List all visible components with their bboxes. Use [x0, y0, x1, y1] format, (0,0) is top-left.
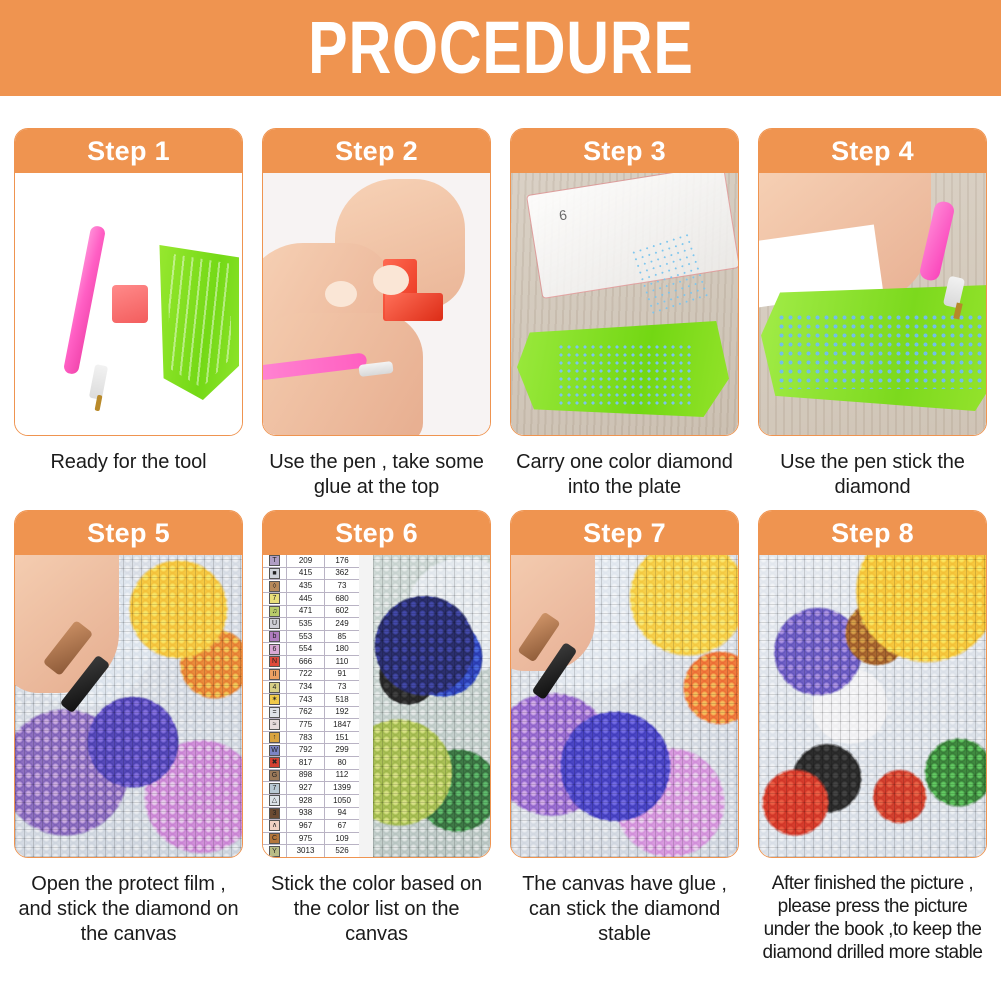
color-code-cell: 445: [287, 593, 325, 605]
color-list-row: ∧96767: [263, 820, 359, 833]
step-cell-6: Step 6 T209176■415362◊435737445680♫47160…: [262, 510, 491, 964]
glue-on-pen-photo: [263, 173, 490, 435]
color-list-row: b55385: [263, 631, 359, 644]
tool-kit-photo: [15, 173, 242, 435]
color-quantity-cell: 1399: [325, 782, 359, 794]
color-swatch-icon: U: [269, 618, 280, 629]
color-symbol-cell: C: [263, 833, 287, 845]
step-card-2: Step 2: [262, 128, 491, 436]
canvas-mosaic-photo: [511, 555, 738, 857]
tray-grooves-icon: [165, 253, 231, 388]
step-header-label-7: Step 7: [583, 520, 666, 547]
color-swatch-icon: △: [269, 795, 280, 806]
pour-diamonds-photo: 6: [511, 173, 738, 435]
mosaic-grid: [759, 555, 986, 857]
color-code-cell: 792: [287, 744, 325, 756]
step-header-label-4: Step 4: [831, 138, 914, 165]
step-image-5: [15, 555, 242, 857]
color-swatch-icon: W: [269, 745, 280, 756]
color-list-row: T209176: [263, 555, 359, 568]
color-swatch-icon: 3: [269, 808, 280, 819]
color-quantity-cell: 109: [325, 833, 359, 845]
color-code-cell: 666: [287, 656, 325, 668]
color-symbol-cell: 7: [263, 782, 287, 794]
color-symbol-cell: =: [263, 707, 287, 719]
step-header-label-8: Step 8: [831, 520, 914, 547]
step-caption-4: Use the pen stick the diamond: [758, 450, 987, 500]
step-image-1: [15, 173, 242, 435]
color-code-cell: 535: [287, 618, 325, 630]
step-card-8: Step 8: [758, 510, 987, 858]
color-code-cell: 209: [287, 555, 325, 567]
color-symbol-cell: ≈: [263, 719, 287, 731]
color-quantity-cell: 180: [325, 643, 359, 655]
step-header-label-3: Step 3: [583, 138, 666, 165]
table-canvas-divider: [359, 555, 373, 857]
step-header-8: Step 8: [759, 511, 986, 555]
beads-in-tray-icon: [777, 313, 983, 389]
color-list-row: 79271399: [263, 782, 359, 795]
color-swatch-icon: Y: [269, 846, 280, 857]
color-swatch-icon: ∧: [269, 820, 280, 831]
color-quantity-cell: 73: [325, 580, 359, 592]
step-image-4: [759, 173, 986, 435]
color-swatch-icon: G: [269, 770, 280, 781]
color-code-cell: 553: [287, 631, 325, 643]
color-list-row: 393894: [263, 808, 359, 821]
procedure-infographic: PROCEDURE Step 1: [0, 0, 1001, 1001]
color-quantity-cell: 94: [325, 808, 359, 820]
glue-tube-body-icon: [385, 293, 443, 321]
step-cell-8: Step 8 After finished the picture , plea…: [758, 510, 987, 964]
step-header-1: Step 1: [15, 129, 242, 173]
color-list-row: Y3013526: [263, 845, 359, 857]
color-symbol-cell: ↑: [263, 732, 287, 744]
step-header-4: Step 4: [759, 129, 986, 173]
step-card-6: Step 6 T209176■415362◊435737445680♫47160…: [262, 510, 491, 858]
color-code-cell: 415: [287, 568, 325, 580]
step-image-8: [759, 555, 986, 857]
color-quantity-cell: 1050: [325, 795, 359, 807]
step-caption-2: Use the pen , take some glue at the top: [262, 450, 491, 500]
color-code-cell: 783: [287, 732, 325, 744]
step-header-label-6: Step 6: [335, 520, 418, 547]
step-header-5: Step 5: [15, 511, 242, 555]
color-quantity-cell: 518: [325, 694, 359, 706]
color-list-row: ✖81780: [263, 757, 359, 770]
color-code-cell: 938: [287, 808, 325, 820]
color-quantity-cell: 85: [325, 631, 359, 643]
color-symbol-cell: 6: [263, 643, 287, 655]
color-list-row: ✶743518: [263, 694, 359, 707]
color-code-cell: 3013: [287, 845, 325, 857]
color-symbol-cell: Y: [263, 845, 287, 857]
step-header-label-2: Step 2: [335, 138, 418, 165]
page-title: PROCEDURE: [308, 11, 693, 85]
page-banner: PROCEDURE: [0, 0, 1001, 96]
color-symbol-cell: ∧: [263, 820, 287, 832]
color-code-cell: 722: [287, 669, 325, 681]
color-code-cell: 928: [287, 795, 325, 807]
step-card-3: Step 3 6: [510, 128, 739, 436]
color-quantity-cell: 91: [325, 669, 359, 681]
color-quantity-cell: 67: [325, 820, 359, 832]
color-list-row: ♫471602: [263, 606, 359, 619]
step-cell-5: Step 5 Open the protect film , and stick…: [14, 510, 243, 964]
color-code-cell: 775: [287, 719, 325, 731]
step-cell-7: Step 7 The canvas have glue , can stick …: [510, 510, 739, 964]
pen-icon: [63, 225, 106, 375]
step-card-5: Step 5: [14, 510, 243, 858]
step-card-4: Step 4: [758, 128, 987, 436]
color-quantity-cell: 80: [325, 757, 359, 769]
step-image-6: T209176■415362◊435737445680♫471602U53524…: [263, 555, 490, 857]
step-image-2: [263, 173, 490, 435]
step-caption-8: After finished the picture , please pres…: [758, 872, 987, 964]
color-symbol-cell: b: [263, 631, 287, 643]
step-header-label-1: Step 1: [87, 138, 170, 165]
color-quantity-cell: 176: [325, 555, 359, 567]
color-quantity-cell: 110: [325, 656, 359, 668]
color-swatch-icon: N: [269, 656, 280, 667]
step-card-1: Step 1: [14, 128, 243, 436]
color-list-row: 473473: [263, 681, 359, 694]
step-image-3: 6: [511, 173, 738, 435]
step-header-6: Step 6: [263, 511, 490, 555]
step-cell-3: Step 3 6 Carry one color diamond into th…: [510, 128, 739, 500]
color-swatch-icon: ✶: [269, 694, 280, 705]
color-code-cell: 927: [287, 782, 325, 794]
step-image-7: [511, 555, 738, 857]
step-cell-1: Step 1 Ready for the tool: [14, 128, 243, 500]
color-list-row: U535249: [263, 618, 359, 631]
color-swatch-icon: ◊: [269, 581, 280, 592]
step-header-3: Step 3: [511, 129, 738, 173]
color-swatch-icon: II: [269, 669, 280, 680]
step-caption-3: Carry one color diamond into the plate: [510, 450, 739, 500]
color-list-row: N666110: [263, 656, 359, 669]
color-swatch-icon: 4: [269, 682, 280, 693]
color-swatch-icon: ≈: [269, 719, 280, 730]
color-list-photo: T209176■415362◊435737445680♫471602U53524…: [263, 555, 490, 857]
color-list-row: ↑783151: [263, 732, 359, 745]
color-code-cell: 762: [287, 707, 325, 719]
color-symbol-cell: W: [263, 744, 287, 756]
fingernail-icon: [325, 281, 357, 307]
color-quantity-cell: 299: [325, 744, 359, 756]
color-swatch-icon: 6: [269, 644, 280, 655]
color-symbol-cell: N: [263, 656, 287, 668]
fingernail-icon: [373, 265, 409, 295]
color-list-row: G898112: [263, 770, 359, 783]
color-code-cell: 975: [287, 833, 325, 845]
color-symbol-cell: ✶: [263, 694, 287, 706]
color-code-cell: 471: [287, 606, 325, 618]
steps-grid: Step 1 Ready for the tool: [0, 96, 1001, 964]
color-quantity-cell: 362: [325, 568, 359, 580]
step-caption-7: The canvas have glue , can stick the dia…: [510, 872, 739, 947]
color-quantity-cell: 151: [325, 732, 359, 744]
color-swatch-icon: ✖: [269, 757, 280, 768]
color-swatch-icon: =: [269, 707, 280, 718]
color-symbol-cell: ■: [263, 568, 287, 580]
color-swatch-icon: 7: [269, 593, 280, 604]
color-quantity-cell: 602: [325, 606, 359, 618]
color-swatch-icon: 7: [269, 783, 280, 794]
canvas-mosaic-photo: [373, 555, 490, 857]
color-list-table: T209176■415362◊435737445680♫471602U53524…: [263, 555, 359, 857]
color-swatch-icon: C: [269, 833, 280, 844]
color-list-row: 6554180: [263, 643, 359, 656]
color-symbol-cell: 7: [263, 593, 287, 605]
pick-diamond-photo: [759, 173, 986, 435]
color-quantity-cell: 680: [325, 593, 359, 605]
color-code-cell: 435: [287, 580, 325, 592]
step-header-label-5: Step 5: [87, 520, 170, 547]
mosaic-grid: [373, 555, 490, 857]
color-list-row: ■415362: [263, 568, 359, 581]
color-symbol-cell: ◊: [263, 580, 287, 592]
color-quantity-cell: 249: [325, 618, 359, 630]
color-symbol-cell: 3: [263, 808, 287, 820]
color-code-cell: 743: [287, 694, 325, 706]
color-symbol-cell: ✖: [263, 757, 287, 769]
color-swatch-icon: b: [269, 631, 280, 642]
color-symbol-cell: T: [263, 555, 287, 567]
step-header-7: Step 7: [511, 511, 738, 555]
step-caption-5: Open the protect film , and stick the di…: [14, 872, 243, 947]
color-swatch-icon: ♫: [269, 606, 280, 617]
color-symbol-cell: ♫: [263, 606, 287, 618]
step-header-2: Step 2: [263, 129, 490, 173]
color-quantity-cell: 526: [325, 845, 359, 857]
step-caption-1: Ready for the tool: [48, 450, 208, 475]
step-cell-2: Step 2 U: [262, 128, 491, 500]
color-list-row: II72291: [263, 669, 359, 682]
color-symbol-cell: II: [263, 669, 287, 681]
color-list-row: △9281050: [263, 795, 359, 808]
color-quantity-cell: 73: [325, 681, 359, 693]
color-quantity-cell: 1847: [325, 719, 359, 731]
color-list-row: ◊43573: [263, 580, 359, 593]
color-list-row: W792299: [263, 744, 359, 757]
step-caption-6: Stick the color based on the color list …: [262, 872, 491, 947]
color-code-cell: 817: [287, 757, 325, 769]
color-quantity-cell: 192: [325, 707, 359, 719]
color-symbol-cell: 4: [263, 681, 287, 693]
color-symbol-cell: G: [263, 770, 287, 782]
step-card-7: Step 7: [510, 510, 739, 858]
color-list-row: 7445680: [263, 593, 359, 606]
color-quantity-cell: 112: [325, 770, 359, 782]
color-list-row: ≈7751847: [263, 719, 359, 732]
wax-square-icon: [112, 285, 148, 323]
color-symbol-cell: U: [263, 618, 287, 630]
step-cell-4: Step 4 Use the pen st: [758, 128, 987, 500]
color-swatch-icon: ↑: [269, 732, 280, 743]
beads-in-tray-icon: [557, 343, 693, 405]
color-code-cell: 734: [287, 681, 325, 693]
finished-canvas-photo: [759, 555, 986, 857]
color-code-cell: 898: [287, 770, 325, 782]
color-list-row: =762192: [263, 707, 359, 720]
canvas-mosaic-photo: [15, 555, 242, 857]
color-code-cell: 967: [287, 820, 325, 832]
color-code-cell: 554: [287, 643, 325, 655]
color-symbol-cell: △: [263, 795, 287, 807]
color-list-row: C975109: [263, 833, 359, 846]
color-swatch-icon: ■: [269, 568, 280, 579]
color-swatch-icon: T: [269, 555, 280, 566]
